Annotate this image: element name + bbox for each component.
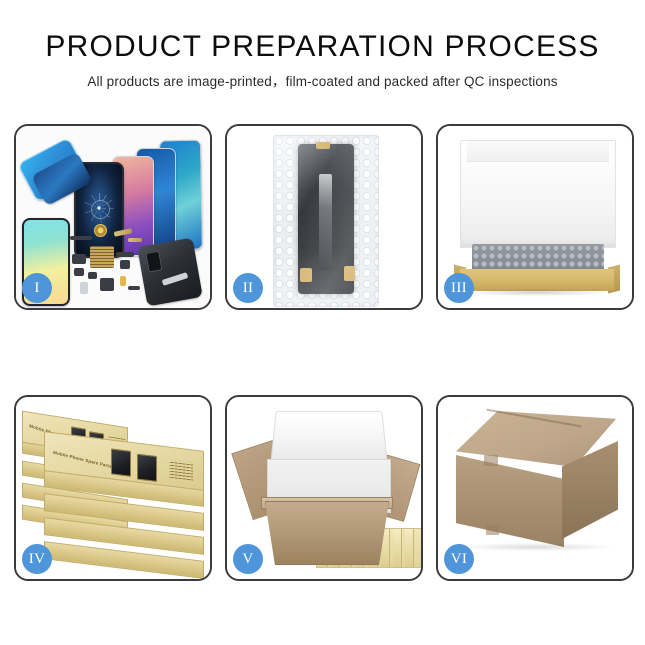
wrapped-flex-cable xyxy=(319,174,332,270)
page-title: PRODUCT PREPARATION PROCESS xyxy=(0,30,645,63)
white-box-lid xyxy=(460,140,616,248)
step-badge-5: V xyxy=(233,544,263,574)
step-panel-3[interactable]: III xyxy=(436,124,634,310)
speaker-coil-part xyxy=(94,224,107,237)
flex-cable-part-b xyxy=(128,238,142,242)
lid-fold-crease xyxy=(467,141,609,162)
bracket-part-b xyxy=(116,252,134,257)
bracket-part-c xyxy=(120,260,130,269)
connector-bottom-left xyxy=(300,268,312,282)
connector-top xyxy=(316,142,330,149)
stacked-kraft-boxes: Mobile Phone Spare Parts Mobile Phone Sp… xyxy=(20,407,210,573)
box-window-front-b xyxy=(137,454,157,482)
antenna-strip-part xyxy=(70,236,92,240)
shield-mesh-part xyxy=(90,246,114,268)
camera-module-icon xyxy=(145,251,162,273)
phone-back-housing xyxy=(137,238,203,307)
foam-box-lid xyxy=(270,411,388,465)
kraft-box-front xyxy=(460,269,614,291)
box-window-front-a xyxy=(111,448,131,476)
header: PRODUCT PREPARATION PROCESS All products… xyxy=(0,0,645,90)
step-panel-6[interactable]: VI xyxy=(436,395,634,581)
process-steps-grid: I II xyxy=(14,124,631,581)
boxed-product-7 xyxy=(393,529,402,567)
bracket-part-d xyxy=(74,268,84,276)
step-panel-2[interactable]: II xyxy=(225,124,423,310)
step-panel-4[interactable]: Mobile Phone Spare Parts Mobile Phone Sp… xyxy=(14,395,212,581)
step-panel-1[interactable]: I xyxy=(14,124,212,310)
step-badge-3: III xyxy=(444,273,474,303)
boxed-product-8 xyxy=(405,529,414,567)
box-label-front: Mobile Phone Spare Parts xyxy=(53,450,112,469)
step-panel-5[interactable]: V xyxy=(225,395,423,581)
connector-bottom-right xyxy=(344,266,355,281)
box-drop-shadow xyxy=(464,289,610,296)
carton-body xyxy=(265,501,389,565)
sim-tray-part xyxy=(80,282,88,294)
bracket-part-a xyxy=(72,254,86,264)
carton-drop-shadow xyxy=(462,543,612,551)
camera-part xyxy=(100,278,114,291)
carton-tape-lower xyxy=(486,525,499,535)
page-subtitle: All products are image-printed，film-coat… xyxy=(0,74,645,90)
carton-tape-upper xyxy=(484,455,498,466)
step-badge-1: I xyxy=(22,273,52,303)
bracket-part-e xyxy=(88,272,97,279)
box-text-lines-front xyxy=(169,460,193,481)
screen-crack-ring-icon xyxy=(91,200,110,219)
step-badge-6: VI xyxy=(444,544,474,574)
bubble-wrap-sheet xyxy=(273,135,379,307)
connector-part xyxy=(128,286,140,290)
chip-part xyxy=(120,276,126,286)
product-preparation-process-page: PRODUCT PREPARATION PROCESS All products… xyxy=(0,0,645,645)
step-badge-2: II xyxy=(233,273,263,303)
step-badge-4: IV xyxy=(22,544,52,574)
